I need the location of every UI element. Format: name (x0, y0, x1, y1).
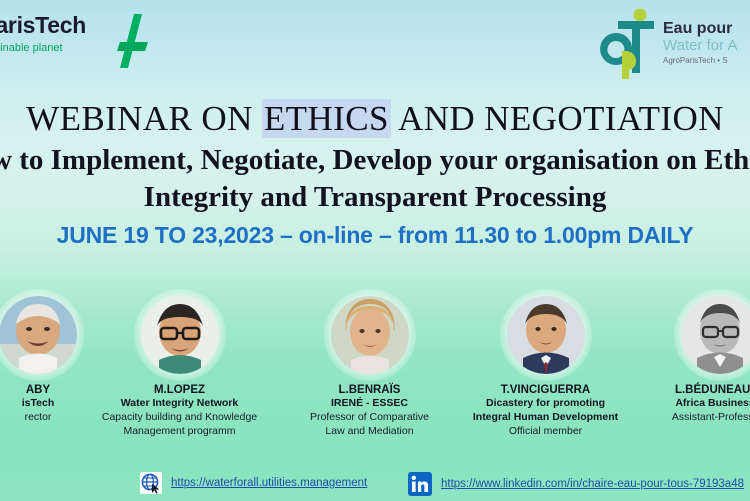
speaker-card: L.BENRAÏS IRENÉ - ESSEC Professor of Com… (272, 296, 467, 438)
eau-pour-tous-logo: Eau pour Water for A AgroParisTech • S (598, 4, 750, 82)
speaker-org: Dicastery for promoting (448, 397, 643, 411)
portrait-photo-3 (331, 296, 409, 374)
portrait-photo-5 (681, 296, 750, 374)
speaker-card: M.LOPEZ Water Integrity Network Capacity… (82, 296, 277, 438)
speaker-org: IRENÉ - ESSEC (272, 397, 467, 411)
speaker-org-2: Integral Human Development (448, 411, 643, 425)
eau-pour-tous-line1: Eau pour (663, 21, 737, 38)
linkedin-link-group[interactable]: https://www.linkedin.com/in/chaire-eau-p… (408, 472, 744, 496)
avatar (507, 296, 585, 374)
website-link[interactable]: https://waterforall.utilities.management (171, 477, 367, 489)
title-after: AND NEGOTIATION (391, 99, 724, 138)
portrait-photo-1 (0, 296, 77, 374)
speaker-card: T.VINCIGUERRA Dicastery for promoting In… (448, 296, 643, 438)
portrait-photo-2 (141, 296, 219, 374)
eau-pour-tous-line3: AgroParisTech • S (663, 56, 737, 65)
portrait-photo-4 (507, 296, 585, 374)
eau-pour-tous-mark (598, 7, 660, 79)
speaker-role: Assistant-Professor i (625, 411, 750, 425)
speaker-name: L.BÉDUNEAU-W (625, 383, 750, 397)
avatar (141, 296, 219, 374)
event-dateline: JUNE 19 TO 23,2023 – on-line – from 11.3… (0, 222, 750, 249)
subtitle-line-1: low to Implement, Negotiate, Develop you… (0, 144, 750, 176)
eau-pour-tous-line2: Water for A (663, 38, 737, 55)
speaker-role: Professor of Comparative (272, 411, 467, 425)
speaker-role: Official member (448, 425, 643, 439)
footer-links: https://waterforall.utilities.management… (0, 471, 750, 497)
speaker-role: Capacity building and Knowledge (82, 411, 277, 425)
speaker-name: M.LOPEZ (82, 383, 277, 397)
avatar (681, 296, 750, 374)
linkedin-link[interactable]: https://www.linkedin.com/in/chaire-eau-p… (441, 478, 744, 490)
page-title: WEBINAR ON ETHICS AND NEGOTIATION (0, 99, 750, 139)
speaker-role-2: Management programm (82, 425, 277, 439)
page-subtitle: low to Implement, Negotiate, Develop you… (0, 142, 750, 216)
speaker-name: T.VINCIGUERRA (448, 383, 643, 397)
speaker-card: L.BÉDUNEAU-W Africa Business S Assistant… (625, 296, 750, 425)
avatar (0, 296, 77, 374)
speaker-list: ABY isTech rector (0, 296, 750, 471)
subtitle-line-2: Integrity and Transparent Processing (0, 179, 750, 216)
speaker-name: L.BENRAÏS (272, 383, 467, 397)
speaker-org: Water Integrity Network (82, 397, 277, 411)
title-before: WEBINAR ON (26, 99, 262, 138)
linkedin-icon (408, 472, 432, 496)
speaker-org: Africa Business S (625, 397, 750, 411)
title-highlight-ethics: ETHICS (262, 99, 391, 138)
globe-icon (140, 472, 162, 494)
agroparistech-a-mark (108, 12, 152, 70)
speaker-role-2: Law and Mediation (272, 425, 467, 439)
website-link-group[interactable]: https://waterforall.utilities.management (140, 472, 367, 494)
agroparistech-logo: roParisTech r a sustainable planet (0, 14, 158, 76)
avatar (331, 296, 409, 374)
